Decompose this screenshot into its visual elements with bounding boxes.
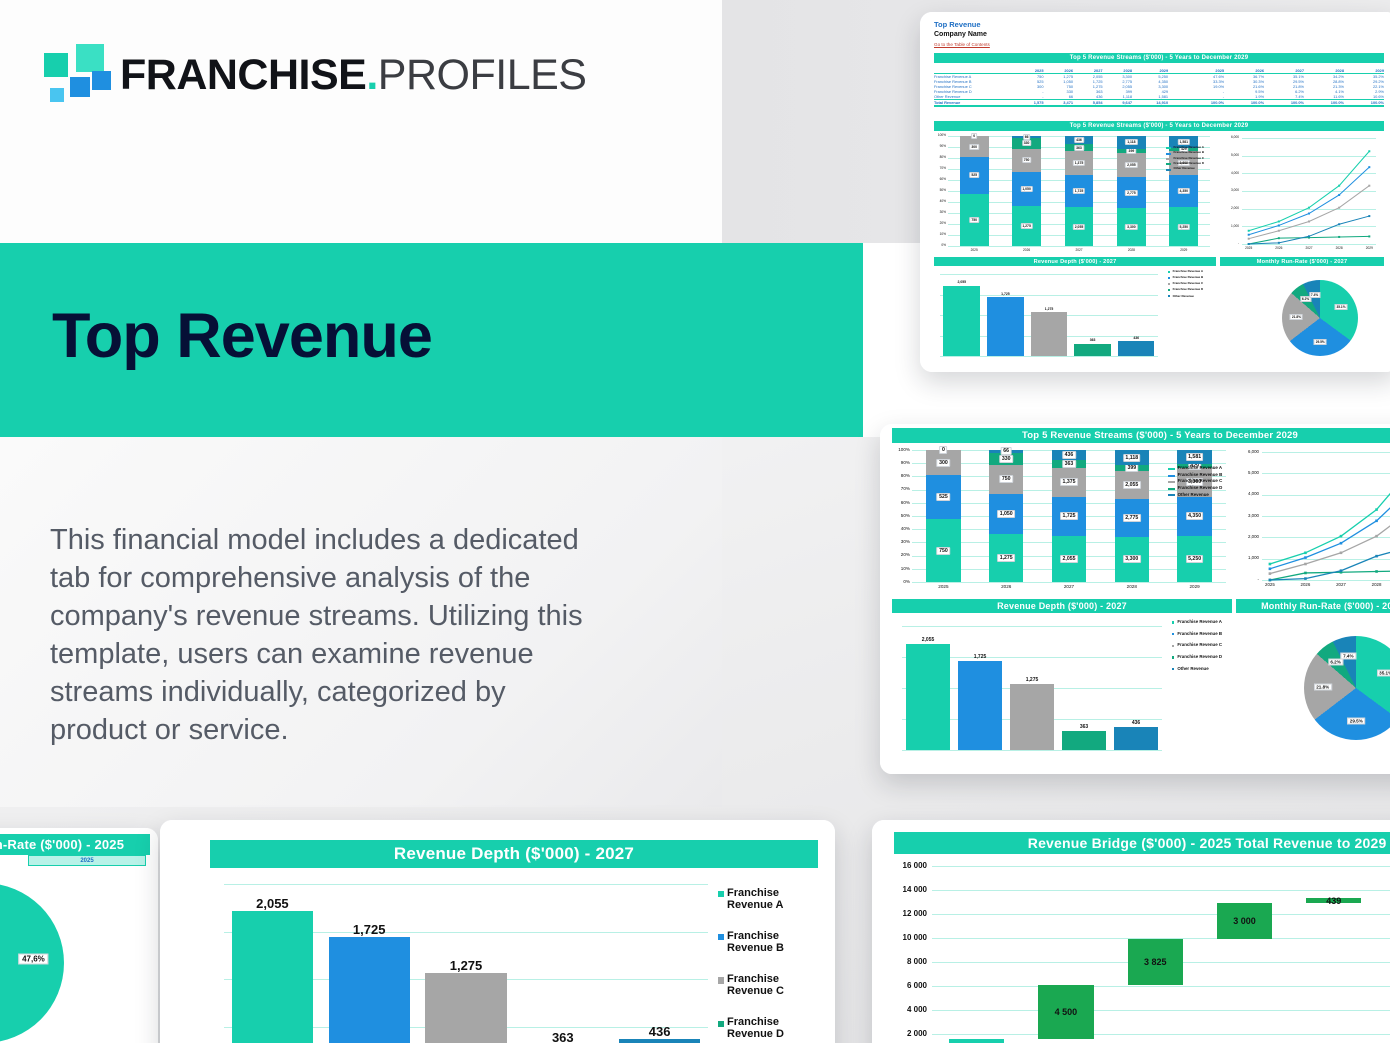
chart-runrate-pie-2025[interactable]: 47,6%33,3%19,0%0,0%0,0% xyxy=(0,868,158,1043)
stacked-bar: 3,3002,7752,0553991,118 xyxy=(1115,450,1150,582)
legend-swatch xyxy=(1172,621,1174,623)
segment-value-label: 2,055 xyxy=(1060,555,1078,563)
band-streams-large: Top 5 Revenue Streams ($'000) - 5 Years … xyxy=(892,428,1390,443)
band-depth-mini: Revenue Depth ($'000) - 2027 xyxy=(934,257,1216,266)
pie-card-bottom-left[interactable]: Monthly Run-Rate ($'000) - 2025 2025 47,… xyxy=(0,828,158,1043)
legend-label: Franchise Revenue C xyxy=(1173,282,1204,285)
legend-item: Franchise Revenue B xyxy=(1166,151,1218,154)
stacked-bar: 1,2751,05075033066 xyxy=(1012,136,1041,246)
segment-value-label: 66 xyxy=(1023,134,1031,140)
legend-item: Franchise Revenue D xyxy=(1168,288,1212,291)
chart-revenue-mix-pie-large[interactable]: 35.1%29.5%21.8%6.2%7.4% xyxy=(1236,616,1390,766)
segment-value-label: 1,581 xyxy=(1178,139,1190,145)
logo-dot: . xyxy=(366,51,377,99)
bar-value-label: 436 xyxy=(1133,336,1139,340)
legend-swatch xyxy=(1168,475,1175,477)
segment-value-label: 1,118 xyxy=(1123,454,1141,462)
bar-segment: 2,055 xyxy=(1115,471,1150,499)
legend-swatch xyxy=(1166,169,1171,171)
chart-revenue-mix-pie-mini[interactable]: 35.1%29.5%21.8%6.2%7.4% xyxy=(1220,268,1384,368)
x-tick-label: 2027 xyxy=(1038,584,1101,589)
brand-logo: FRANCHISE.PROFILES xyxy=(44,44,544,108)
legend-label: Franchise Revenue D xyxy=(1178,486,1223,491)
segment-value-label: 363 xyxy=(1062,460,1076,468)
gridline xyxy=(932,890,1390,891)
bar xyxy=(1114,727,1158,750)
chart-run-rate-mini[interactable]: 6,0005,0004,0003,0002,0001,000-202520262… xyxy=(1220,132,1384,256)
legend-item: Franchise Revenue C xyxy=(1168,479,1232,484)
legend-item: Franchise Revenue C xyxy=(1166,157,1218,160)
bar xyxy=(1074,344,1111,356)
pie-value-label: 6.2% xyxy=(1328,658,1343,665)
chart-revenue-depth-bottom[interactable]: 2,0551,7251,275363436Franchise Revenue A… xyxy=(210,870,818,1043)
segment-value-label: 4,350 xyxy=(1186,512,1204,520)
bar-value-label: 2,055 xyxy=(256,896,289,911)
segment-value-label: 1,581 xyxy=(1186,453,1204,461)
x-tick-label: 2027 xyxy=(1327,582,1355,587)
pie-value-label: 35.1% xyxy=(1335,304,1348,310)
legend-item: Franchise Revenue D xyxy=(1166,162,1218,165)
legend-swatch xyxy=(1168,488,1175,490)
legend-swatch xyxy=(1172,668,1174,670)
pie-value-label: 21.8% xyxy=(1290,314,1303,320)
segment-value-label: 66 xyxy=(1001,447,1012,455)
legend-swatch xyxy=(1166,158,1171,160)
bar-value-label: 3 825 xyxy=(1128,957,1183,967)
segment-value-label: 3,300 xyxy=(1125,224,1137,230)
legend-item: Other Revenue xyxy=(1166,167,1218,170)
stacked-bar: 7505253000 xyxy=(960,136,989,246)
waterfall-bar: 4 500 xyxy=(1038,985,1093,1039)
gridline xyxy=(902,750,1162,751)
y-tick-label: 6 000 xyxy=(872,981,927,990)
gridline xyxy=(940,356,1158,357)
x-tick-label: 2027 xyxy=(1295,246,1323,250)
x-tick-label: 2028 xyxy=(1325,246,1353,250)
segment-value-label: 2,775 xyxy=(1123,514,1141,522)
legend-swatch xyxy=(1168,283,1170,285)
legend-label: Franchise Revenue D xyxy=(1177,655,1222,660)
background-top-left xyxy=(0,0,722,243)
pie-value-label: 29.5% xyxy=(1347,718,1365,725)
y-tick-label: 100% xyxy=(892,447,910,452)
segment-value-label: 399 xyxy=(1127,148,1137,154)
chart-revenue-depth-mini[interactable]: 2,0551,7251,275363436Franchise Revenue A… xyxy=(934,268,1216,368)
bar xyxy=(1010,684,1054,750)
dashboard-card-top[interactable]: Top Revenue Company Name Go to the Table… xyxy=(920,12,1390,372)
bar-value-label: 3 000 xyxy=(1217,916,1272,926)
pie-value-label: 35.1% xyxy=(1377,669,1390,676)
bar xyxy=(987,297,1024,356)
pie-value-label: 29.5% xyxy=(1314,339,1327,345)
y-tick-label: 80% xyxy=(934,155,946,159)
bar-value-label: 363 xyxy=(552,1030,574,1043)
legend-swatch xyxy=(1168,481,1175,483)
y-tick-label: 12 000 xyxy=(872,909,927,918)
segment-value-label: 330 xyxy=(1022,140,1032,146)
bar xyxy=(1118,341,1155,356)
segment-value-label: 300 xyxy=(969,144,979,150)
legend-swatch xyxy=(1168,289,1170,291)
legend-swatch xyxy=(1168,271,1170,273)
revenue-bridge-sheet: Revenue Bridge ($'000) - 2025 Total Reve… xyxy=(872,820,1390,1043)
logo-square-1 xyxy=(44,53,68,77)
bar-segment: 750 xyxy=(960,194,989,246)
y-tick-label: 60% xyxy=(892,500,910,505)
legend-item: Other Revenue xyxy=(1168,493,1232,498)
bar-segment: 436 xyxy=(1052,450,1087,460)
stacked-bar: 2,0551,7251,375363436 xyxy=(1052,450,1087,582)
legend-label: Franchise Revenue B xyxy=(1173,276,1204,279)
legend-item: Franchise Revenue C xyxy=(718,974,814,997)
bar-segment: 5,250 xyxy=(1169,207,1198,246)
legend-label: Franchise Revenue A xyxy=(1174,146,1204,149)
table-of-contents-link[interactable]: Go to the Table of Contents xyxy=(934,42,990,47)
segment-value-label: 1,375 xyxy=(1073,160,1085,166)
y-tick-label: 80% xyxy=(892,473,910,478)
y-tick-label: 14 000 xyxy=(872,885,927,894)
legend-swatch xyxy=(718,891,724,897)
legend-item: Franchise Revenue D xyxy=(1168,486,1232,491)
bar-segment: 1,118 xyxy=(1117,136,1146,149)
legend-swatch xyxy=(1168,468,1175,470)
line-series xyxy=(1220,132,1384,256)
x-tick-label: 2025 xyxy=(1256,582,1284,587)
legend-label: Franchise Revenue A xyxy=(1178,466,1223,471)
legend-swatch xyxy=(718,1021,724,1027)
chart-revenue-depth-large[interactable]: 2,0551,7251,275363436Franchise Revenue A… xyxy=(892,616,1232,766)
gridline xyxy=(932,986,1390,987)
bar-segment: 4,350 xyxy=(1169,175,1198,207)
gridline xyxy=(932,866,1390,867)
segment-value-label: 2,055 xyxy=(1125,162,1137,168)
x-tick-label: 2029 xyxy=(1158,248,1210,252)
segment-value-label: 5,250 xyxy=(1186,555,1204,563)
legend-item: Franchise Revenue D xyxy=(1172,655,1228,660)
x-tick-label: 2026 xyxy=(1291,582,1319,587)
bar xyxy=(329,937,410,1043)
bar xyxy=(619,1039,700,1043)
x-tick-label: 2028 xyxy=(1100,584,1163,589)
dashboard-card-middle[interactable]: Top 5 Revenue Streams ($'000) - 5 Years … xyxy=(880,424,1390,774)
legend-label: Franchise Revenue B xyxy=(1177,632,1222,637)
band-runrate-mini: Monthly Run-Rate ($'000) - 2027 xyxy=(1220,257,1384,266)
band-top-streams: Top 5 Revenue Streams ($'000) - 5 Years … xyxy=(934,53,1384,63)
segment-value-label: 1,725 xyxy=(1060,512,1078,520)
bar-segment: 525 xyxy=(926,475,961,519)
y-tick-label: 10% xyxy=(934,232,946,236)
line-series xyxy=(1232,444,1390,596)
bar-segment: 363 xyxy=(1065,144,1094,151)
y-tick-label: 8 000 xyxy=(872,957,927,966)
bar-segment: 436 xyxy=(1065,136,1094,144)
table-total-row: Total Revenue1,5753,4715,8549,64714,9101… xyxy=(934,100,1384,107)
chart-stacked-streams-mini[interactable]: 100%90%80%70%60%50%40%30%20%10%0%7505253… xyxy=(934,132,1216,256)
legend-label: Franchise Revenue B xyxy=(1178,473,1223,478)
spreadsheet-view: Top Revenue Company Name Go to the Table… xyxy=(920,12,1390,372)
bar xyxy=(1062,731,1106,750)
x-tick-label: 2029 xyxy=(1163,584,1226,589)
bar-segment: 2,055 xyxy=(1052,536,1087,582)
chart-legend: Franchise Revenue AFranchise Revenue BFr… xyxy=(1168,270,1212,301)
bar-segment: 1,275 xyxy=(1012,206,1041,246)
runrate-pie-sheet: Monthly Run-Rate ($'000) - 2025 2025 47,… xyxy=(0,828,158,1043)
band-runrate-large: Monthly Run-Rate ($'000) - 2027 xyxy=(1236,599,1390,613)
legend-swatch xyxy=(1166,163,1171,165)
bar-segment: 3,300 xyxy=(1117,208,1146,246)
y-tick-label: 40% xyxy=(892,526,910,531)
legend-label: Franchise Revenue A xyxy=(1173,270,1203,273)
pie-value-label: 47,6% xyxy=(19,954,48,965)
legend-label: Other Revenue xyxy=(1174,167,1195,170)
chart-revenue-bridge[interactable]: 16 00014 00012 00010 0008 0006 0004 0002… xyxy=(872,856,1390,1043)
revenue-depth-sheet: Revenue Depth ($'000) - 2027 2,0551,7251… xyxy=(160,820,835,1043)
chart-run-rate-large[interactable]: 6,0005,0004,0003,0002,0001,000-202520262… xyxy=(1232,444,1390,596)
bar-segment: 750 xyxy=(1012,149,1041,173)
legend-item: Other Revenue xyxy=(1172,667,1228,672)
waterfall-bar: 3 000 xyxy=(1217,903,1272,939)
logo-wordmark: FRANCHISE.PROFILES xyxy=(120,46,586,104)
y-tick-label: 100% xyxy=(934,133,946,137)
legend-label: Franchise Revenue D xyxy=(727,1017,814,1040)
bar-segment: 399 xyxy=(1117,149,1146,154)
segment-value-label: 525 xyxy=(969,172,979,178)
legend-label: Franchise Revenue B xyxy=(1174,151,1205,154)
logo-square-5 xyxy=(50,88,64,102)
legend-item: Franchise Revenue A xyxy=(1168,466,1232,471)
bar-value-label: 363 xyxy=(1080,724,1088,730)
legend-label: Franchise Revenue A xyxy=(1177,620,1222,625)
bar-value-label: 4 500 xyxy=(1038,1007,1093,1017)
legend-label: Franchise Revenue C xyxy=(1174,157,1205,160)
legend-swatch xyxy=(1168,295,1170,297)
gridline xyxy=(948,246,1210,247)
legend-label: Other Revenue xyxy=(1178,493,1209,498)
bar-value-label: 1,275 xyxy=(1026,677,1039,683)
x-tick-label: 2025 xyxy=(948,248,1000,252)
segment-value-label: 2,775 xyxy=(1125,190,1137,196)
stacked-bar: 1,2751,05075033066 xyxy=(989,450,1024,582)
bar-value-label: 1,725 xyxy=(353,922,386,937)
x-tick-label: 2026 xyxy=(1265,246,1293,250)
x-tick-label: 2029 xyxy=(1355,246,1383,250)
waterfall-bar: 439 xyxy=(1306,898,1361,903)
logo-square-4 xyxy=(92,71,111,90)
legend-item: Franchise Revenue B xyxy=(1168,473,1232,478)
bar-segment: 2,055 xyxy=(1065,207,1094,246)
y-tick-label: 50% xyxy=(892,513,910,518)
segment-value-label: 4,350 xyxy=(1178,188,1190,194)
segment-value-label: 525 xyxy=(937,493,951,501)
bar-value-label: 1,275 xyxy=(1045,307,1054,311)
legend-item: Franchise Revenue A xyxy=(1166,146,1218,149)
slide-canvas: FRANCHISE.PROFILES Top Revenue This fina… xyxy=(0,0,1390,1043)
segment-value-label: 1,275 xyxy=(997,554,1015,562)
stacked-bar: 3,3002,7752,0553991,118 xyxy=(1117,136,1146,246)
bar-value-label: 436 xyxy=(649,1024,671,1039)
bar-segment: 2,055 xyxy=(1117,153,1146,176)
legend-swatch xyxy=(1166,147,1171,149)
stacked-bar: 2,0551,7251,375363436 xyxy=(1065,136,1094,246)
legend-item: Franchise Revenue C xyxy=(1168,282,1212,285)
x-tick-label: 2028 xyxy=(1363,582,1390,587)
bar-segment: 1,375 xyxy=(1065,151,1094,175)
segment-value-label: 1,725 xyxy=(1073,188,1085,194)
gridline xyxy=(932,1034,1390,1035)
chart-legend: Franchise Revenue AFranchise Revenue BFr… xyxy=(1172,620,1228,678)
legend-swatch xyxy=(1168,494,1175,496)
y-tick-label: 90% xyxy=(892,460,910,465)
legend-label: Franchise Revenue D xyxy=(1173,288,1204,291)
year-tab-2025[interactable]: 2025 xyxy=(28,855,146,866)
pie-value-label: 21.8% xyxy=(1314,683,1332,690)
segment-value-label: 363 xyxy=(1074,145,1084,151)
bar-segment: 66 xyxy=(989,450,1024,453)
y-tick-label: 60% xyxy=(934,177,946,181)
y-tick-label: 4 000 xyxy=(872,1005,927,1014)
band-chart-streams: Top 5 Revenue Streams ($'000) - 5 Years … xyxy=(934,121,1384,131)
waterfall-bar: 1 575 xyxy=(949,1039,1004,1043)
bar-value-label: 1,725 xyxy=(1001,292,1010,296)
logo-word-franchise: FRANCHISE xyxy=(120,51,366,99)
y-tick-label: 0% xyxy=(934,243,946,247)
legend-item: Franchise Revenue C xyxy=(1172,643,1228,648)
gridline xyxy=(912,582,1226,583)
segment-value-label: 750 xyxy=(937,547,951,555)
logo-mark-icon xyxy=(44,44,112,106)
x-tick-label: 2026 xyxy=(975,584,1038,589)
bar xyxy=(943,286,980,356)
segment-value-label: 1,375 xyxy=(1060,478,1078,486)
x-tick-label: 2025 xyxy=(1235,246,1263,250)
legend-swatch xyxy=(1172,656,1174,658)
bar-segment: 1,725 xyxy=(1052,497,1087,536)
bar-value-label: 363 xyxy=(1090,338,1096,342)
bar xyxy=(906,644,950,750)
legend-item: Franchise Revenue A xyxy=(1172,620,1228,625)
bar-segment: 1,275 xyxy=(989,534,1024,582)
bar-value-label: 2,055 xyxy=(922,637,935,643)
legend-label: Franchise Revenue C xyxy=(1177,643,1222,648)
bar-value-label: 1,725 xyxy=(974,654,987,660)
bar-value-label: 436 xyxy=(1132,720,1140,726)
segment-value-label: 750 xyxy=(969,217,979,223)
legend-swatch xyxy=(718,934,724,940)
segment-value-label: 5,250 xyxy=(1178,224,1190,230)
bar-segment: 1,118 xyxy=(1115,450,1150,465)
x-tick-label: 2027 xyxy=(1053,248,1105,252)
bar-segment: 1,581 xyxy=(1177,450,1212,464)
bar-segment: 5,250 xyxy=(1177,536,1212,582)
y-tick-label: 0% xyxy=(892,579,910,584)
legend-swatch xyxy=(1168,277,1170,279)
segment-value-label: 2,055 xyxy=(1123,481,1141,489)
hero-description: This financial model includes a dedicate… xyxy=(50,521,610,749)
legend-swatch xyxy=(1172,633,1174,635)
bar-value-label: 1,275 xyxy=(450,958,483,973)
chart-stacked-streams-large[interactable]: 100%90%80%70%60%50%40%30%20%10%0%7505253… xyxy=(892,444,1232,596)
segment-value-label: 436 xyxy=(1074,137,1084,143)
y-tick-label: 90% xyxy=(934,144,946,148)
chart-legend: Franchise Revenue AFranchise Revenue BFr… xyxy=(718,888,814,1043)
legend-swatch xyxy=(718,977,724,983)
bar-segment: 300 xyxy=(960,136,989,157)
bar-value-label: 2,055 xyxy=(958,280,967,284)
bar-segment: 1,050 xyxy=(1012,172,1041,205)
legend-item: Franchise Revenue D xyxy=(718,1017,814,1040)
bar-value-label: 439 xyxy=(1306,896,1361,906)
segment-value-label: 3,300 xyxy=(1123,555,1141,563)
x-tick-label: 2026 xyxy=(1000,248,1052,252)
bar-segment: 2,775 xyxy=(1115,499,1150,537)
legend-item: Franchise Revenue B xyxy=(1172,632,1228,637)
chart-legend: Franchise Revenue AFranchise Revenue BFr… xyxy=(1168,466,1232,499)
legend-label: Other Revenue xyxy=(1173,295,1194,298)
bar-segment: 3,300 xyxy=(1115,537,1150,582)
waterfall-bar: 3 825 xyxy=(1128,939,1183,985)
gridline xyxy=(932,1010,1390,1011)
y-tick-label: 10 000 xyxy=(872,933,927,942)
segment-value-label: 750 xyxy=(1022,157,1032,163)
page-title: Top Revenue xyxy=(52,305,432,368)
revenue-depth-card-bottom[interactable]: Revenue Depth ($'000) - 2027 2,0551,7251… xyxy=(160,820,835,1043)
segment-value-label: 1,275 xyxy=(1020,223,1032,229)
segment-value-label: 1,118 xyxy=(1125,139,1137,145)
pie-value-label: 7.4% xyxy=(1309,292,1320,298)
segment-value-label: 330 xyxy=(999,455,1013,463)
legend-label: Franchise Revenue A xyxy=(727,888,814,911)
chart-legend: Franchise Revenue AFranchise Revenue BFr… xyxy=(1166,146,1218,173)
legend-swatch xyxy=(1166,153,1171,155)
y-tick-label: 70% xyxy=(934,166,946,170)
logo-word-profiles: PROFILES xyxy=(378,51,587,99)
band-depth-bottom: Revenue Depth ($'000) - 2027 xyxy=(210,840,818,868)
legend-label: Franchise Revenue C xyxy=(727,974,814,997)
bar-segment: 750 xyxy=(926,519,961,582)
y-tick-label: 50% xyxy=(934,188,946,192)
y-tick-label: 10% xyxy=(892,566,910,571)
revenue-table: 20252026202720282029 2025202620272028202… xyxy=(934,68,1384,107)
legend-label: Franchise Revenue B xyxy=(727,931,814,954)
band-revenue-bridge: Revenue Bridge ($'000) - 2025 Total Reve… xyxy=(894,832,1390,854)
bar xyxy=(425,973,506,1043)
bar xyxy=(232,911,313,1043)
bar-segment: 2,775 xyxy=(1117,177,1146,209)
revenue-bridge-card-bottom[interactable]: Revenue Bridge ($'000) - 2025 Total Reve… xyxy=(872,820,1390,1043)
segment-value-label: 1,050 xyxy=(997,510,1015,518)
bar-segment: 750 xyxy=(989,465,1024,494)
sheet-title: Top Revenue xyxy=(934,20,981,29)
segment-value-label: 2,055 xyxy=(1073,224,1085,230)
legend-label: Other Revenue xyxy=(1177,667,1208,672)
bar-segment: 4,350 xyxy=(1177,497,1212,536)
y-tick-label: 30% xyxy=(892,539,910,544)
logo-square-2 xyxy=(76,44,104,72)
bar-segment: 1,725 xyxy=(1065,175,1094,207)
stacked-bar: 7505253000 xyxy=(926,450,961,582)
band-runrate-2025: Monthly Run-Rate ($'000) - 2025 xyxy=(0,834,150,855)
y-tick-label: 2 000 xyxy=(872,1029,927,1038)
segment-value-label: 750 xyxy=(999,475,1013,483)
gridline xyxy=(940,274,1158,275)
legend-label: Franchise Revenue D xyxy=(1174,162,1205,165)
pie-value-label: 7.4% xyxy=(1341,652,1356,659)
bar-segment: 399 xyxy=(1115,465,1150,470)
bar-segment: 525 xyxy=(960,157,989,194)
segment-value-label: 300 xyxy=(937,459,951,467)
gridline xyxy=(932,914,1390,915)
y-tick-label: 70% xyxy=(892,486,910,491)
